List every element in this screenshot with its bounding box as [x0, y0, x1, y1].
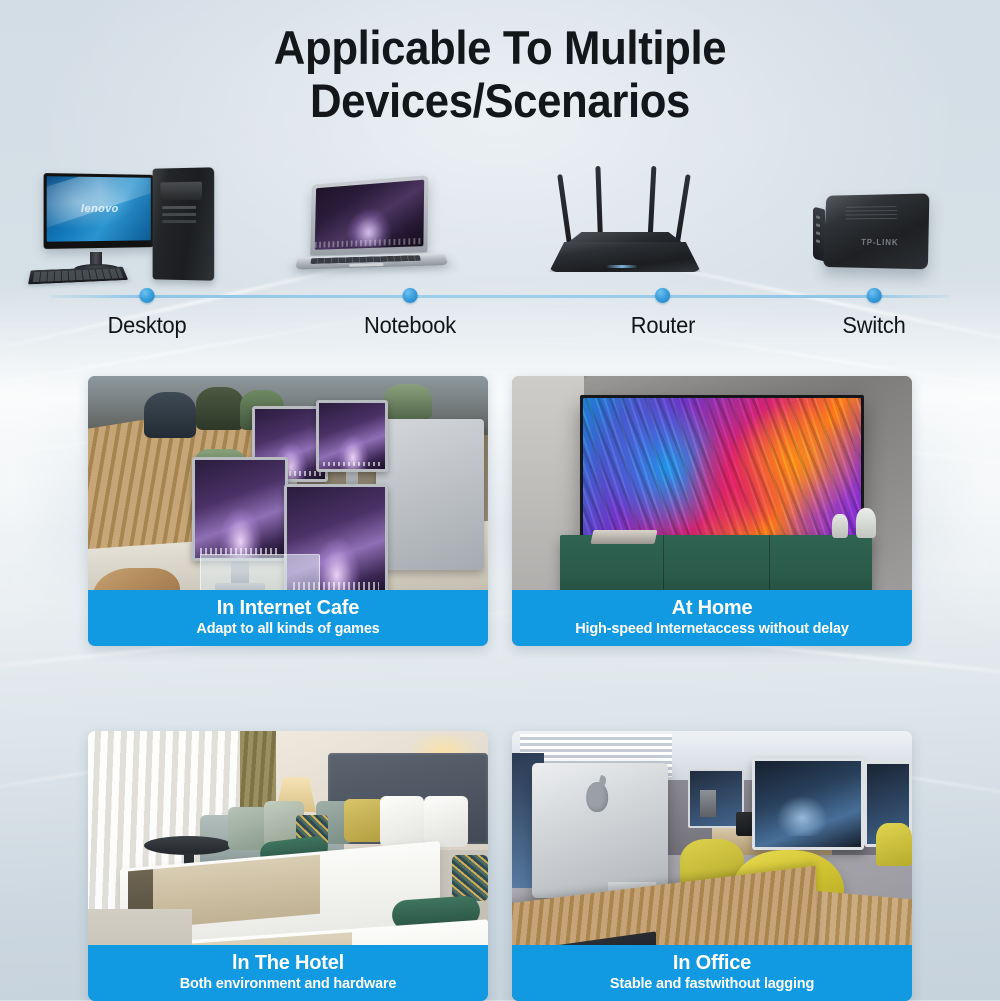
network-switch-icon: TP-LINK [805, 182, 945, 286]
monitor-screen: lenovo [47, 176, 151, 242]
scenario-card-hotel[interactable]: ln The Hotel Both environment and hardwa… [88, 731, 488, 1001]
timeline-dot-icon [656, 288, 671, 303]
pc-tower-icon [153, 167, 215, 280]
scenario-caption-internet-cafe: In Internet Cafe Adapt to all kinds of g… [88, 590, 488, 646]
timeline-item-switch[interactable]: Switch [841, 288, 908, 339]
page-title-line-1: Applicable To Multiple [274, 21, 726, 74]
tplink-logo: TP-LINK [861, 238, 899, 247]
timeline-dot-icon [139, 288, 154, 303]
timeline-item-notebook[interactable]: Notebook [362, 288, 459, 339]
scenario-subtitle: Adapt to all kinds of games [196, 622, 379, 638]
device-timeline: Desktop Notebook Router Switch [0, 286, 1000, 348]
timeline-item-desktop[interactable]: Desktop [106, 288, 189, 339]
laptop-lid [310, 175, 428, 256]
timeline-label-desktop: Desktop [108, 312, 187, 339]
scenario-caption-at-home: At Home High-speed Internetaccess withou… [512, 590, 912, 646]
laptop-icon [295, 176, 455, 286]
scenario-card-at-home[interactable]: At Home High-speed Internetaccess withou… [512, 376, 912, 646]
timeline-item-router[interactable]: Router [629, 288, 697, 339]
scenario-card-grid: In Internet Cafe Adapt to all kinds of g… [88, 376, 912, 1001]
device-cell-switch: TP-LINK [750, 138, 1000, 286]
lenovo-logo: lenovo [81, 203, 119, 215]
scenario-caption-hotel: ln The Hotel Both environment and hardwa… [88, 945, 488, 1001]
device-cell-notebook [250, 138, 500, 286]
timeline-dot-icon [866, 288, 881, 303]
switch-body: TP-LINK [823, 193, 929, 269]
keyboard-icon [28, 267, 128, 285]
scenario-subtitle: High-speed Internetaccess without delay [575, 622, 848, 638]
device-cell-router [500, 138, 750, 286]
timeline-label-notebook: Notebook [364, 312, 456, 339]
scenario-title: ln The Hotel [232, 953, 344, 974]
timeline-label-router: Router [631, 312, 695, 339]
monitor-icon: lenovo [44, 173, 154, 249]
scenario-caption-office: In Office Stable and fastwithout lagging [512, 945, 912, 1001]
scenario-subtitle: Both environment and hardware [180, 977, 397, 993]
scenario-card-internet-cafe[interactable]: In Internet Cafe Adapt to all kinds of g… [88, 376, 488, 646]
laptop-screen [315, 180, 425, 250]
timeline-dot-icon [402, 288, 417, 303]
scenario-title: In Office [673, 953, 751, 974]
switch-vents [845, 206, 897, 222]
scenario-card-office[interactable]: In Office Stable and fastwithout lagging [512, 731, 912, 1001]
page-title-line-2: Devices/Scenarios [35, 75, 965, 128]
desktop-computer-icon: lenovo [30, 158, 220, 286]
router-led-strip [607, 265, 637, 268]
scenario-title: At Home [672, 598, 753, 619]
device-illustration-row: lenovo [0, 138, 1000, 286]
timeline-label-switch: Switch [842, 312, 905, 339]
page-title: Applicable To Multiple Devices/Scenarios [35, 22, 965, 127]
device-cell-desktop: lenovo [0, 138, 250, 286]
scenario-subtitle: Stable and fastwithout lagging [610, 977, 814, 993]
scenario-title: In Internet Cafe [217, 598, 359, 619]
wifi-router-icon [545, 156, 705, 286]
